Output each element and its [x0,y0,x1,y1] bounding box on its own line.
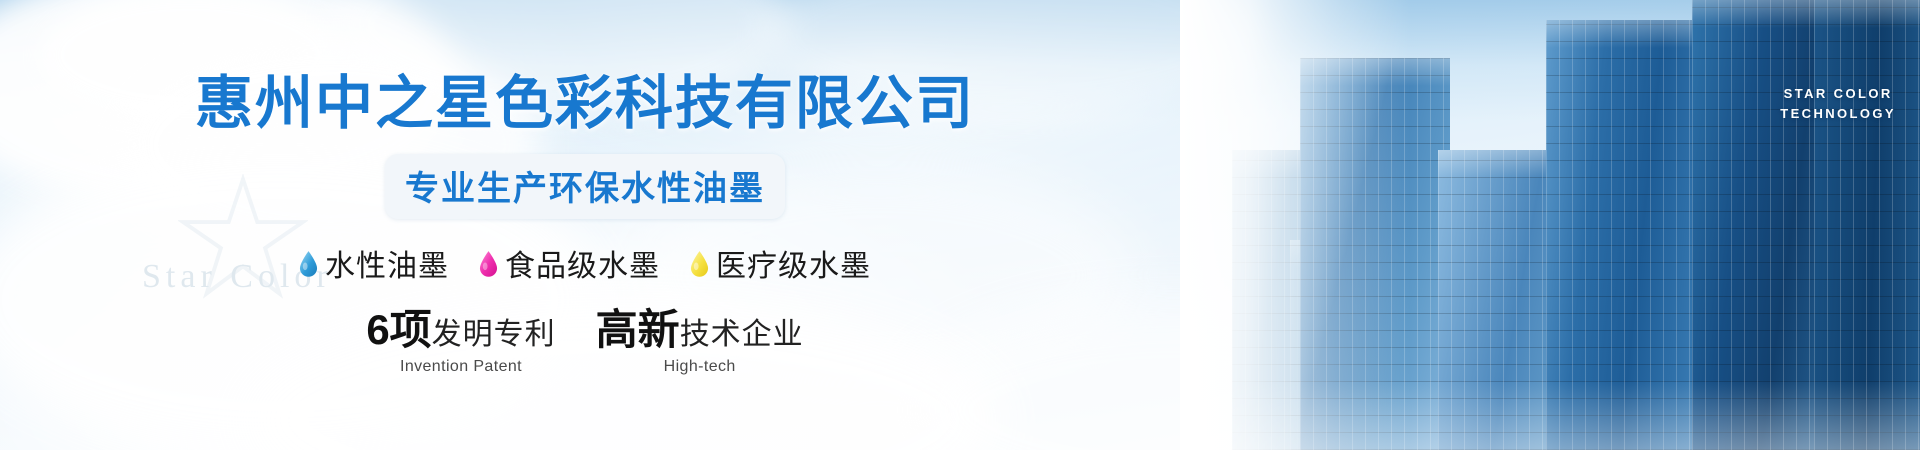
feature-label: 水性油墨 [325,241,449,285]
badge-chinese: 6项发明专利 [366,309,555,351]
feature-label: 食品级水墨 [505,241,660,285]
promo-banner: Star Color STAR COLOR TECHNOLOGY 惠州中之星色彩… [0,0,1920,450]
badge-text: 技术企业 [680,318,804,351]
badge-text: 发明专利 [432,318,556,351]
feature-item: 医疗级水墨 [690,241,871,285]
water-drop-icon [690,250,709,277]
subtitle-text: 专业生产环保水性油墨 [405,170,765,208]
brand-overlay-line-2: TECHNOLOGY [1780,104,1896,124]
feature-list: 水性油墨 食品级水墨 [299,241,871,285]
water-drop-icon [479,250,498,277]
badge-emphasis: 6项 [366,306,431,353]
badge-item: 6项发明专利 Invention Patent [366,309,555,376]
cityscape-photo [1180,0,1920,450]
banner-content: 惠州中之星色彩科技有限公司 专业生产环保水性油墨 水性油墨 [0,0,1170,450]
brand-overlay-line-1: STAR COLOR [1780,84,1896,104]
badge-english: Invention Patent [366,358,555,376]
badge-item: 高新技术企业 High-tech [596,309,804,376]
badge-list: 6项发明专利 Invention Patent 高新技术企业 High-tech [366,309,803,376]
photo-bottom-fade [1180,380,1920,450]
feature-item: 水性油墨 [299,241,449,285]
subtitle-pill: 专业生产环保水性油墨 [385,154,785,219]
badge-emphasis: 高新 [596,306,680,353]
feature-label: 医疗级水墨 [716,241,871,285]
company-title: 惠州中之星色彩科技有限公司 [195,56,975,140]
feature-item: 食品级水墨 [479,241,660,285]
badge-english: High-tech [596,358,804,376]
brand-overlay-text: STAR COLOR TECHNOLOGY [1780,84,1896,124]
water-drop-icon [299,250,318,277]
badge-chinese: 高新技术企业 [596,309,804,351]
